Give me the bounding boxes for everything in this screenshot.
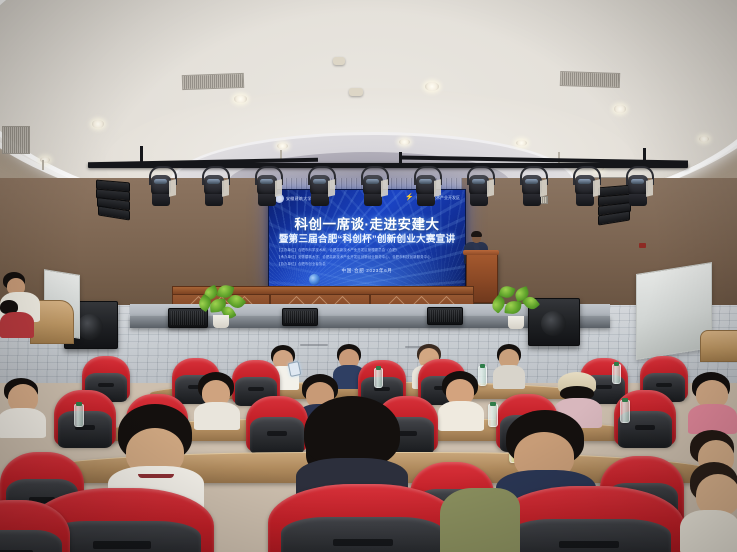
ceiling-vent	[2, 126, 30, 154]
stage-spotlight	[360, 166, 386, 208]
screen-globe-icon	[309, 274, 320, 285]
stage-spotlight	[254, 166, 280, 208]
audience-member	[688, 372, 737, 432]
stage-spotlight	[625, 166, 651, 208]
sprinkler-head-icon	[42, 160, 44, 170]
ceiling-downlight	[614, 105, 626, 113]
water-bottle	[612, 364, 621, 384]
floor-monitor-right	[427, 307, 463, 325]
lectern-top	[463, 250, 499, 255]
ceiling-downlight	[516, 140, 527, 146]
smoke-detector-icon	[333, 57, 345, 65]
stage-spotlight	[519, 166, 545, 208]
screen-body-line-2: 【承办单位】安徽建筑大学、合肥高新技术产业开发区创新创业服务中心、合肥市科技创新…	[277, 255, 457, 260]
audience-member	[440, 371, 482, 429]
smoke-detector-icon	[349, 88, 363, 96]
audience-member	[494, 344, 524, 386]
ceiling-downlight	[699, 136, 709, 142]
ceiling-downlight	[234, 95, 247, 103]
water-bottle	[620, 400, 630, 423]
ceiling-downlight	[425, 82, 439, 91]
water-bottle	[374, 368, 383, 388]
foreground-audience-member	[112, 404, 198, 500]
stage-spotlight	[148, 166, 174, 208]
ceiling-downlight	[277, 143, 288, 149]
auditorium-seat[interactable]	[54, 390, 116, 446]
audience-member	[0, 378, 46, 436]
potted-plant-right	[490, 285, 542, 329]
side-rail-right	[700, 330, 737, 362]
presentation-subtitle: 暨第三届合肥“科创杯”创新创业大赛宣讲	[269, 231, 465, 245]
auditorium-seat-front[interactable]	[494, 486, 684, 552]
truss-drop-right	[643, 148, 646, 168]
screen-body-line-3: 【协办单位】合肥市创业者协会	[277, 262, 457, 267]
auditorium-photo: 安徽建筑大学 ⚡ 合肥高新技术产业开发区 科创一席谈·走进安建大 暨第三届合肥“…	[0, 0, 737, 552]
stage-spotlight	[466, 166, 492, 208]
truss-drop-left	[140, 146, 143, 166]
screen-body-line-1: 【主办单位】合肥市科学技术局、合肥高新技术产业开发区管理委员会（合肥）	[277, 248, 457, 253]
presenter-hair	[471, 231, 482, 237]
ceiling-downlight	[92, 120, 104, 128]
stage-spotlight	[307, 166, 333, 208]
plant-pot	[508, 316, 524, 329]
auditorium-seat-front[interactable]	[268, 484, 458, 552]
water-bottle	[488, 404, 498, 427]
stage-spotlight	[572, 166, 598, 208]
presentation-title: 科创一席谈·走进安建大	[269, 213, 465, 233]
stage-spotlight	[201, 166, 227, 208]
water-bottle	[74, 404, 84, 427]
potted-plant-left	[196, 285, 248, 329]
foreground-audience-member	[660, 462, 737, 552]
ceiling-downlight	[399, 139, 410, 145]
foreground-audience-member	[440, 468, 520, 552]
auditorium-seat-front[interactable]	[0, 500, 70, 552]
floor-monitor-center	[282, 308, 318, 326]
screen-footer: 中国·合肥 2023年6月	[269, 268, 465, 274]
neck-cord	[138, 474, 174, 478]
exit-sign	[639, 243, 646, 248]
floor-cable	[300, 344, 328, 346]
ceiling-vent	[560, 71, 620, 88]
truss-drop-center	[399, 152, 402, 168]
auditorium-seat[interactable]	[246, 396, 308, 452]
ceiling-vent	[182, 73, 244, 90]
plant-pot	[213, 315, 229, 328]
audience-member	[196, 372, 238, 428]
stage-spotlight	[413, 166, 439, 208]
audience-left-person	[0, 298, 40, 344]
line-array-speaker-left	[96, 181, 128, 217]
